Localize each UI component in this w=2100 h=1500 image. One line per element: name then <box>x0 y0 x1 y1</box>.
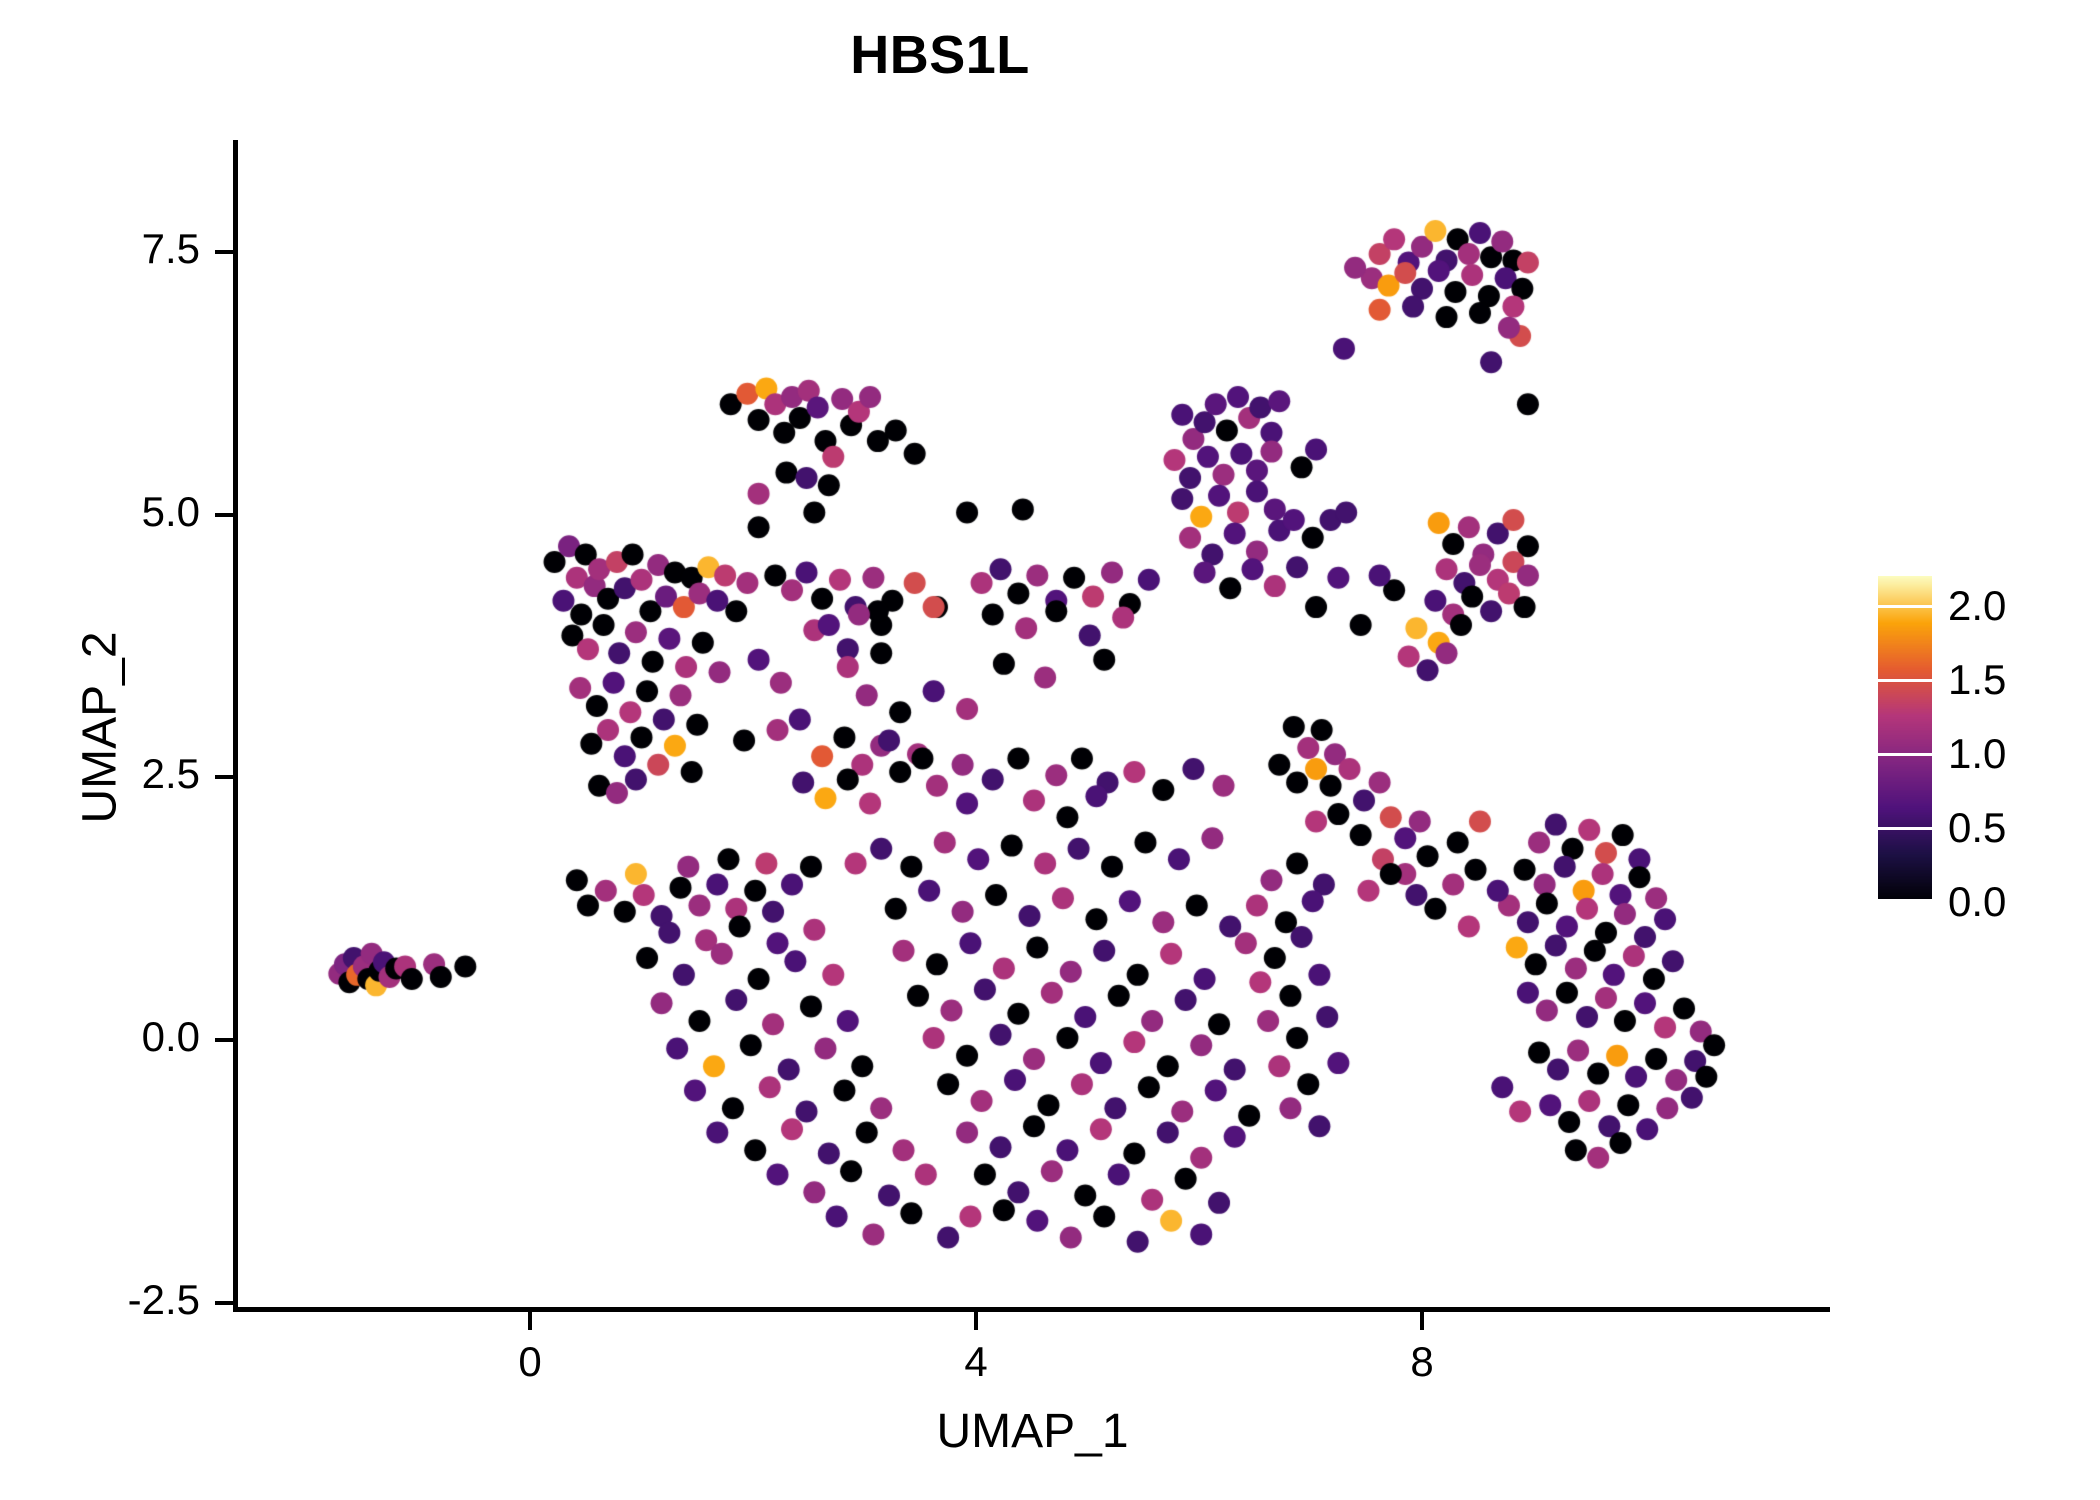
colorbar-tick-label: 0.5 <box>1948 804 2006 852</box>
page-title: HBS1L <box>0 24 1880 86</box>
colorbar-tick-mark <box>1878 679 1932 682</box>
y-axis-label: UMAP_2 <box>73 328 128 1128</box>
x-axis-label: UMAP_1 <box>235 1404 1830 1459</box>
y-tick-mark <box>215 775 233 779</box>
x-tick-label: 8 <box>1362 1338 1482 1386</box>
colorbar-tick-label: 0.0 <box>1948 878 2006 926</box>
scatter-points-layer <box>0 0 2100 1500</box>
y-axis-line <box>233 140 238 1312</box>
colorbar-tick-label: 2.0 <box>1948 582 2006 630</box>
y-tick-mark <box>215 250 233 254</box>
umap-scatter-plot: HBS1L 048 -2.50.02.55.07.5 UMAP_1 UMAP_2… <box>0 0 2100 1500</box>
y-tick-label: -2.5 <box>0 1276 200 1324</box>
colorbar-tick-mark <box>1878 753 1932 756</box>
colorbar-tick-mark <box>1878 899 1932 902</box>
x-tick-mark <box>974 1312 978 1330</box>
y-tick-mark <box>215 1038 233 1042</box>
x-tick-mark <box>1420 1312 1424 1330</box>
x-tick-mark <box>528 1312 532 1330</box>
y-tick-label: 7.5 <box>0 225 200 273</box>
y-tick-mark <box>215 513 233 517</box>
x-tick-label: 4 <box>916 1338 1036 1386</box>
colorbar-gradient <box>1878 576 1932 902</box>
colorbar-tick-mark <box>1878 605 1932 608</box>
x-tick-label: 0 <box>470 1338 590 1386</box>
x-axis-line <box>233 1307 1830 1312</box>
y-tick-mark <box>215 1301 233 1305</box>
colorbar-tick-label: 1.5 <box>1948 656 2006 704</box>
colorbar-tick-mark <box>1878 827 1932 830</box>
colorbar-tick-label: 1.0 <box>1948 730 2006 778</box>
